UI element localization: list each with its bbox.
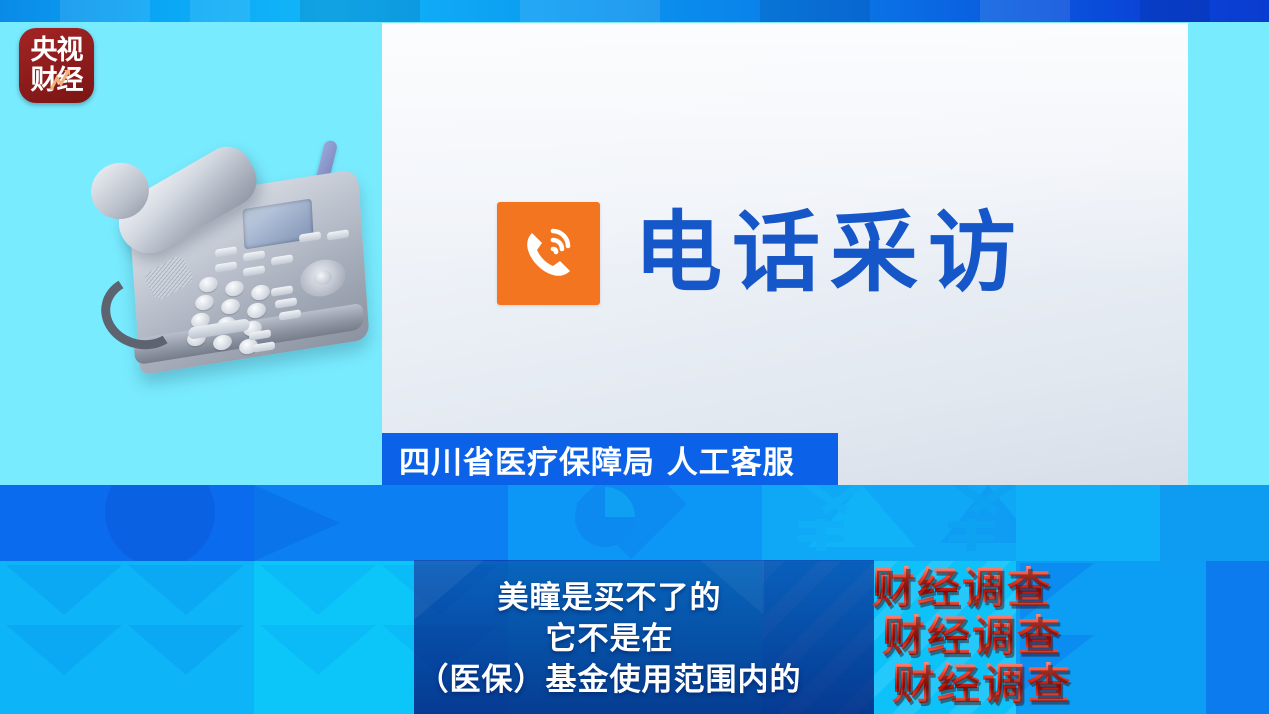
program-logo-line-2: 财经调查 [882, 614, 1162, 660]
program-logo-line-1: 财经调查 [872, 566, 1162, 612]
cctv-finance-logo: 央视 财经 [19, 28, 94, 103]
telephone-handset-glyph [512, 217, 586, 291]
telephone-interview-title: 电话采访 [497, 202, 1026, 305]
telephone-icon [497, 202, 600, 305]
caption-text: 四川省医疗保障局 人工客服 [399, 437, 795, 482]
top-gradient-bar [0, 0, 1269, 22]
logo-line-2: 财经 [31, 66, 83, 96]
program-logo-line-3: 财经调查 [892, 662, 1162, 708]
broadcast-frame: 央视 财经 [0, 0, 1269, 714]
program-logo: 财经调查 财经调查 财经调查 [872, 566, 1162, 714]
caption-bar: 四川省医疗保障局 人工客服 [382, 433, 838, 485]
desk-phone-photo [95, 135, 395, 400]
title-text: 电话采访 [634, 210, 1026, 296]
logo-line-1: 央视 [31, 36, 83, 66]
